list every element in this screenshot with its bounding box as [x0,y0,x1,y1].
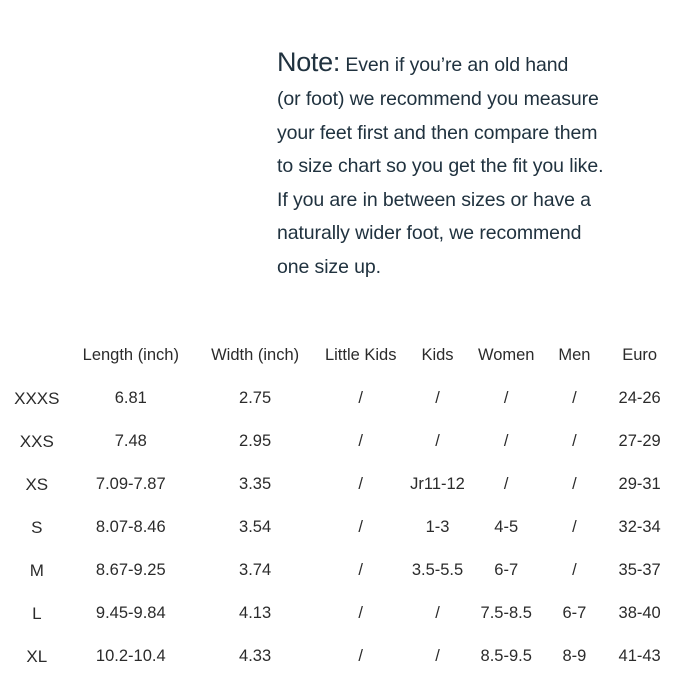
fin-blade-outline [48,14,182,280]
cell-size: S [8,508,66,547]
swim-fin-measurement-diagram: Length Width [30,8,280,323]
note-line-6: naturally wider foot, we recommend [277,217,669,251]
cell-width: 4.33 [196,637,314,676]
fin-heel-outer [86,206,176,242]
table-header-row: Length (inch) Width (inch) Little Kids K… [8,336,671,375]
cell-little-kids: / [318,594,403,633]
cell-kids: / [407,379,468,418]
cell-width: 3.54 [196,508,314,547]
cell-euro: 29-31 [608,465,671,504]
note-line-3: your feet first and then compare them [277,117,669,151]
cell-little-kids: / [318,637,403,676]
column-header-men: Men [545,336,605,375]
cell-kids: / [407,422,468,461]
width-dimension-label: Width [101,299,144,319]
column-header-size [8,336,66,375]
cell-little-kids: / [318,422,403,461]
cell-men: / [545,379,605,418]
cell-euro: 32-34 [608,508,671,547]
table-row: S 8.07-8.46 3.54 / 1-3 4-5 / 32-34 [8,508,671,547]
cell-length: 7.09-7.87 [70,465,192,504]
table-row: M 8.67-9.25 3.74 / 3.5-5.5 6-7 / 35-37 [8,551,671,590]
cell-women: / [472,422,541,461]
cell-size: XS [8,465,66,504]
fin-foot-pocket [100,21,163,148]
cell-women: 7.5-8.5 [472,594,541,633]
cell-little-kids: / [318,551,403,590]
cell-kids: / [407,637,468,676]
cell-length: 6.81 [70,379,192,418]
cell-size: M [8,551,66,590]
note-line-1-text: Even if you’re an old hand [345,54,568,76]
cell-width: 3.35 [196,465,314,504]
cell-little-kids: / [318,379,403,418]
cell-kids: Jr11-12 [407,465,468,504]
column-header-length: Length (inch) [70,336,192,375]
cell-men: / [545,465,605,504]
note-line-5: If you are in between sizes or have a [277,184,669,218]
note-block: Note: Even if you’re an old hand (or foo… [277,44,669,284]
note-heading: Note: [277,47,340,77]
cell-women: / [472,379,541,418]
cell-length: 8.07-8.46 [70,508,192,547]
note-line-1: Note: Even if you’re an old hand [277,44,669,83]
fin-arch-line-1 [96,156,166,174]
column-header-little-kids: Little Kids [318,336,403,375]
table-row: XXS 7.48 2.95 / / / / 27-29 [8,422,671,461]
cell-men: / [545,508,605,547]
cell-euro: 38-40 [608,594,671,633]
cell-kids: 1-3 [407,508,468,547]
cell-euro: 35-37 [608,551,671,590]
cell-kids: 3.5-5.5 [407,551,468,590]
column-header-women: Women [472,336,541,375]
cell-width: 2.95 [196,422,314,461]
table-row: L 9.45-9.84 4.13 / / 7.5-8.5 6-7 38-40 [8,594,671,633]
fin-toe-opening [108,26,155,140]
column-header-width: Width (inch) [196,336,314,375]
cell-width: 4.13 [196,594,314,633]
cell-kids: / [407,594,468,633]
cell-size: L [8,594,66,633]
fin-heel-cup [92,208,170,232]
cell-women: 4-5 [472,508,541,547]
size-chart-table: Length (inch) Width (inch) Little Kids K… [4,332,675,679]
cell-men: / [545,422,605,461]
cell-size: XXXS [8,379,66,418]
cell-size: XXS [8,422,66,461]
column-header-kids: Kids [407,336,468,375]
cell-women: 6-7 [472,551,541,590]
cell-men: / [545,551,605,590]
cell-men: 6-7 [545,594,605,633]
length-dimension-label: Length [178,100,230,120]
fin-blade-inner-contour [58,25,176,276]
cell-women: / [472,465,541,504]
note-line-2: (or foot) we recommend you measure [277,83,669,117]
cell-length: 10.2-10.4 [70,637,192,676]
table-row: XL 10.2-10.4 4.33 / / 8.5-9.5 8-9 41-43 [8,637,671,676]
cell-women: 8.5-9.5 [472,637,541,676]
cell-men: 8-9 [545,637,605,676]
column-header-euro: Euro [608,336,671,375]
note-line-7: one size up. [277,251,669,285]
cell-euro: 27-29 [608,422,671,461]
cell-length: 7.48 [70,422,192,461]
cell-euro: 41-43 [608,637,671,676]
table-row: XS 7.09-7.87 3.35 / Jr11-12 / / 29-31 [8,465,671,504]
fin-arch-line-2 [100,170,162,188]
cell-length: 9.45-9.84 [70,594,192,633]
cell-length: 8.67-9.25 [70,551,192,590]
cell-width: 3.74 [196,551,314,590]
cell-little-kids: / [318,465,403,504]
cell-size: XL [8,637,66,676]
cell-euro: 24-26 [608,379,671,418]
length-dimension-line [185,14,226,240]
cell-little-kids: / [318,508,403,547]
size-chart-page: Length Width Note: Even if you’re an old… [0,0,679,679]
cell-width: 2.75 [196,379,314,418]
table-row: XXXS 6.81 2.75 / / / / 24-26 [8,379,671,418]
note-line-4: to size chart so you get the fit you lik… [277,150,669,184]
